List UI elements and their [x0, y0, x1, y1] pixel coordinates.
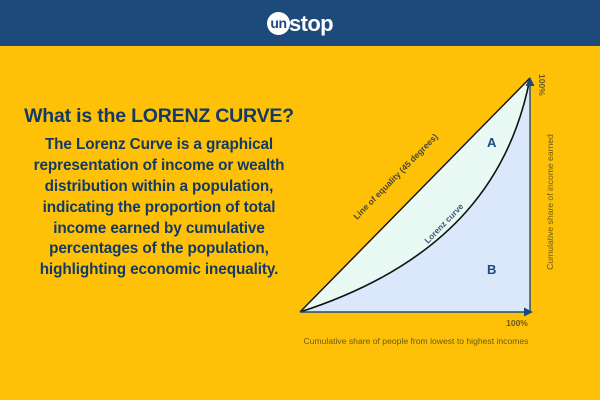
- unstop-logo-mark: un: [267, 12, 290, 35]
- definition-paragraph: The Lorenz Curve is a graphical represen…: [14, 135, 304, 281]
- x-axis-title: Cumulative share of people from lowest t…: [304, 336, 529, 346]
- region-b-label: B: [487, 262, 496, 277]
- unstop-logo-wordmark: stop: [289, 12, 333, 35]
- app-header-bar: un stop: [0, 0, 600, 46]
- y-axis-title: Cumulative share of income earned: [545, 134, 555, 270]
- region-a-label: A: [487, 135, 497, 150]
- lorenz-curve-chart: A B Line of equality (45 degrees) Lorenz…: [280, 52, 600, 362]
- page-title: What is the LORENZ CURVE?: [14, 104, 304, 128]
- unstop-logo[interactable]: un stop: [267, 10, 333, 36]
- x-axis-tick-100: 100%: [506, 318, 528, 328]
- explainer-text-panel: What is the LORENZ CURVE? The Lorenz Cur…: [14, 104, 304, 281]
- y-axis-tick-100: 100%: [537, 74, 547, 96]
